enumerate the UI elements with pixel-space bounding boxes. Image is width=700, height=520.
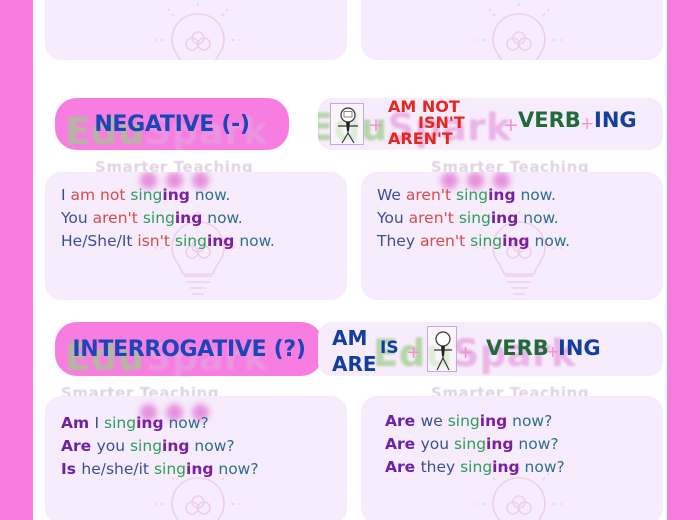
sentence-part-subj: you [421, 435, 454, 453]
sentence-part-ing: ing [162, 186, 189, 204]
sentence-part-stem: sing [130, 437, 162, 455]
sentence-line: You aren't singing now. [377, 207, 570, 230]
sentence-part-aux-q: Are [61, 437, 97, 455]
sentence-part-aux-q: Is [61, 460, 81, 478]
interrogative-examples-card-left: Am I singing now?Are you singing now?Is … [45, 396, 347, 520]
lightbulb-icon [150, 0, 246, 60]
formula-aux-arent: AREN'T [388, 129, 453, 148]
interrogative-examples-card-right: Are we singing now?Are you singing now?A… [361, 396, 663, 520]
sentence-part-now: now? [513, 435, 558, 453]
sentence-line: Are you singing now? [385, 433, 565, 456]
sentence-part-aux-neg: am not [71, 186, 131, 204]
sentence-part-ing: ing [136, 414, 163, 432]
sentence-part-stem: sing [143, 209, 175, 227]
sentence-part-subj: You [61, 209, 93, 227]
sentence-part-ing: ing [486, 435, 513, 453]
sentence-part-ing: ing [502, 232, 529, 250]
sentence-part-now: now. [190, 186, 230, 204]
sentence-part-aux-neg: isn't [137, 232, 174, 250]
sentence-part-now: now. [234, 232, 274, 250]
sentence-part-now: now? [164, 414, 209, 432]
formula-plus-2: + [503, 114, 519, 136]
formula-plus-1: + [368, 114, 384, 136]
sentence-part-subj: he/she/it [81, 460, 154, 478]
sentence-part-subj: I [61, 186, 71, 204]
formula-plus-2: + [458, 342, 473, 363]
interrogative-formula: AM ARE IS + + VERB + ING [318, 322, 663, 376]
affirmative-examples-card-left: You are singing now.He/She/It is playing… [45, 0, 347, 60]
sentence-part-subj: He/She/It [61, 232, 137, 250]
sentence-line: Is he/she/it singing now? [61, 458, 259, 481]
formula-ing: ING [594, 108, 637, 132]
formula-aux-are: ARE [332, 352, 377, 376]
sentence-part-aux-q: Are [385, 458, 421, 476]
sentence-line: Are they singing now? [385, 456, 565, 479]
interrogative-lines-right: Are we singing now?Are you singing now?A… [385, 410, 565, 479]
interrogative-badge-label: INTERROGATIVE (?) [72, 337, 305, 362]
sentence-part-subj: I [95, 414, 105, 432]
sentence-part-stem: sing [470, 232, 502, 250]
worksheet-page: You are singing now.He/She/It is playing… [0, 0, 700, 520]
sentence-part-ing: ing [492, 458, 519, 476]
interrogative-lines-left: Am I singing now?Are you singing now?Is … [61, 412, 259, 481]
interrogative-badge[interactable]: EduSpark INTERROGATIVE (?) [55, 322, 323, 376]
sentence-part-aux-neg: aren't [420, 232, 470, 250]
sentence-part-ing: ing [162, 437, 189, 455]
sentence-line: He/She/It isn't singing now. [61, 230, 275, 253]
lightbulb-icon [471, 0, 567, 60]
sentence-part-ing: ing [480, 412, 507, 430]
sentence-part-subj: We [377, 186, 406, 204]
sentence-part-now: now? [507, 412, 552, 430]
formula-verb-label: VERB [518, 108, 581, 132]
sentence-part-stem: sing [448, 412, 480, 430]
sentence-line: They aren't singing now. [377, 230, 570, 253]
sentence-part-ing: ing [186, 460, 213, 478]
negative-lines-left: I am not singing now.You aren't singing … [61, 184, 275, 253]
sentence-part-stem: sing [130, 186, 162, 204]
negative-badge-label: NEGATIVE (-) [94, 112, 249, 137]
sentence-part-stem: sing [459, 209, 491, 227]
affirmative-examples-card-right: You are singing now.They are singing now… [361, 0, 663, 60]
sentence-part-ing: ing [491, 209, 518, 227]
sentence-part-subj: they [421, 458, 461, 476]
sentence-part-now: now. [530, 232, 570, 250]
sentence-part-now: now. [518, 209, 558, 227]
sentence-part-ing: ing [175, 209, 202, 227]
formula-verb: VERB [518, 108, 581, 132]
formula-plus-1: + [406, 342, 421, 363]
negative-lines-right: We aren't singing now.You aren't singing… [377, 184, 570, 253]
sentence-part-aux-q: Are [385, 435, 421, 453]
formula-verb: VERB [486, 336, 549, 360]
negative-examples-card-left: I am not singing now.You aren't singing … [45, 172, 347, 300]
sentence-line: You aren't singing now. [61, 207, 275, 230]
sentence-part-aux-neg: aren't [93, 209, 143, 227]
sentence-part-now: now? [189, 437, 234, 455]
formula-ing: ING [558, 336, 601, 360]
sentence-part-ing: ing [488, 186, 515, 204]
sentence-part-now: now. [516, 186, 556, 204]
sentence-part-stem: sing [154, 460, 186, 478]
formula-plus-3: + [580, 114, 594, 134]
sentence-part-stem: sing [456, 186, 488, 204]
sentence-part-aux-neg: aren't [409, 209, 459, 227]
negative-examples-card-right: We aren't singing now.You aren't singing… [361, 172, 663, 300]
sentence-part-stem: sing [460, 458, 492, 476]
sentence-line: Are you singing now? [61, 435, 259, 458]
sentence-line: I am not singing now. [61, 184, 275, 207]
sentence-part-subj: They [377, 232, 420, 250]
sentence-part-stem: sing [175, 232, 207, 250]
sentence-part-subj: we [421, 412, 448, 430]
formula-aux-am: AM [332, 326, 367, 350]
sentence-line: Am I singing now? [61, 412, 259, 435]
sentence-part-now: now. [202, 209, 242, 227]
sentence-part-aux-neg: aren't [406, 186, 456, 204]
formula-aux-is: IS [380, 338, 399, 358]
sentence-part-stem: sing [454, 435, 486, 453]
sentence-part-now: now? [520, 458, 565, 476]
sentence-line: Are we singing now? [385, 410, 565, 433]
sentence-part-now: now? [213, 460, 258, 478]
sentence-part-subj: You [377, 209, 409, 227]
sentence-line: We aren't singing now. [377, 184, 570, 207]
stick-figure-icon [427, 326, 457, 372]
sentence-part-ing: ing [207, 232, 234, 250]
sentence-part-subj: you [97, 437, 130, 455]
sentence-part-aux-q: Are [385, 412, 421, 430]
sentence-part-stem: sing [104, 414, 136, 432]
negative-badge[interactable]: EduSpark NEGATIVE (-) [55, 98, 289, 150]
sentence-part-aux-q: Am [61, 414, 95, 432]
negative-formula: + AM NOT ISN'T AREN'T + VERB + ING [318, 98, 663, 150]
paper-sheet: You are singing now.He/She/It is playing… [33, 0, 667, 520]
